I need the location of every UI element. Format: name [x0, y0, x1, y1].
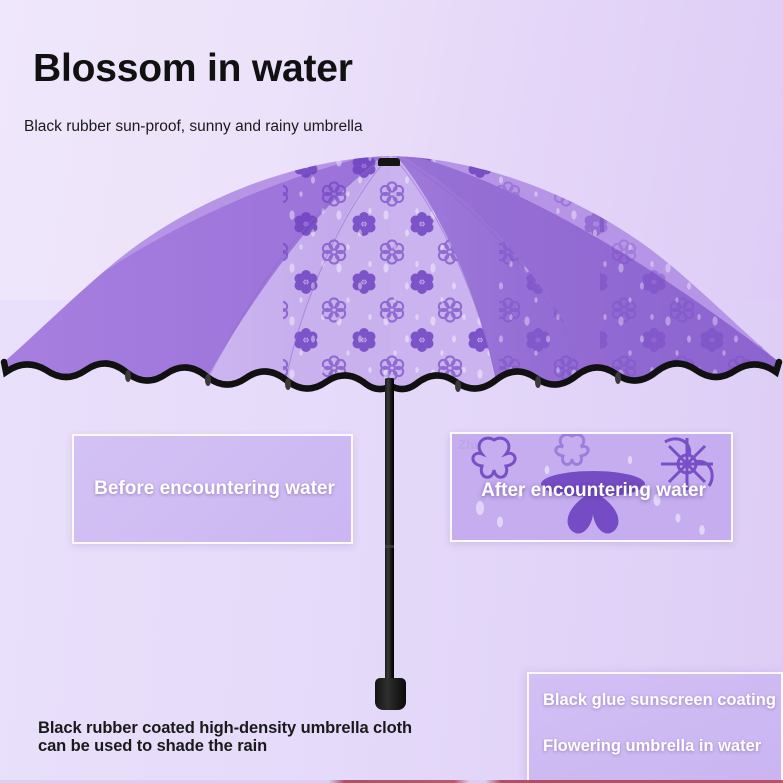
feature-line-flowering: Flowering umbrella in water: [543, 737, 761, 756]
bottom-left-line2: can be used to shade the rain: [38, 737, 412, 755]
bottom-left-line1: Black rubber coated high-density umbrell…: [38, 719, 412, 737]
image-watermark: Zhi: [458, 437, 478, 452]
page-title: Blossom in water: [33, 47, 353, 91]
umbrella-handle: [375, 678, 406, 710]
umbrella-canopy-image: [0, 150, 783, 415]
umbrella-ferrule: [378, 158, 400, 166]
before-water-caption: Before encountering water: [86, 478, 343, 500]
after-water-caption: After encountering water: [460, 480, 727, 502]
before-water-panel: Before encountering water: [72, 434, 353, 544]
feature-line-sunscreen: Black glue sunscreen coating: [543, 691, 776, 710]
bottom-right-feature-panel: Black glue sunscreen coating Flowering u…: [527, 672, 783, 783]
umbrella-shaft: [385, 378, 394, 683]
product-advertisement: Blossom in water Black rubber sun-proof,…: [0, 0, 783, 783]
bottom-left-description: Black rubber coated high-density umbrell…: [38, 719, 412, 756]
after-water-panel: Zhi After encountering water: [450, 432, 733, 542]
page-subtitle: Black rubber sun-proof, sunny and rainy …: [24, 118, 363, 136]
umbrella-shaft-joint: [385, 545, 394, 548]
